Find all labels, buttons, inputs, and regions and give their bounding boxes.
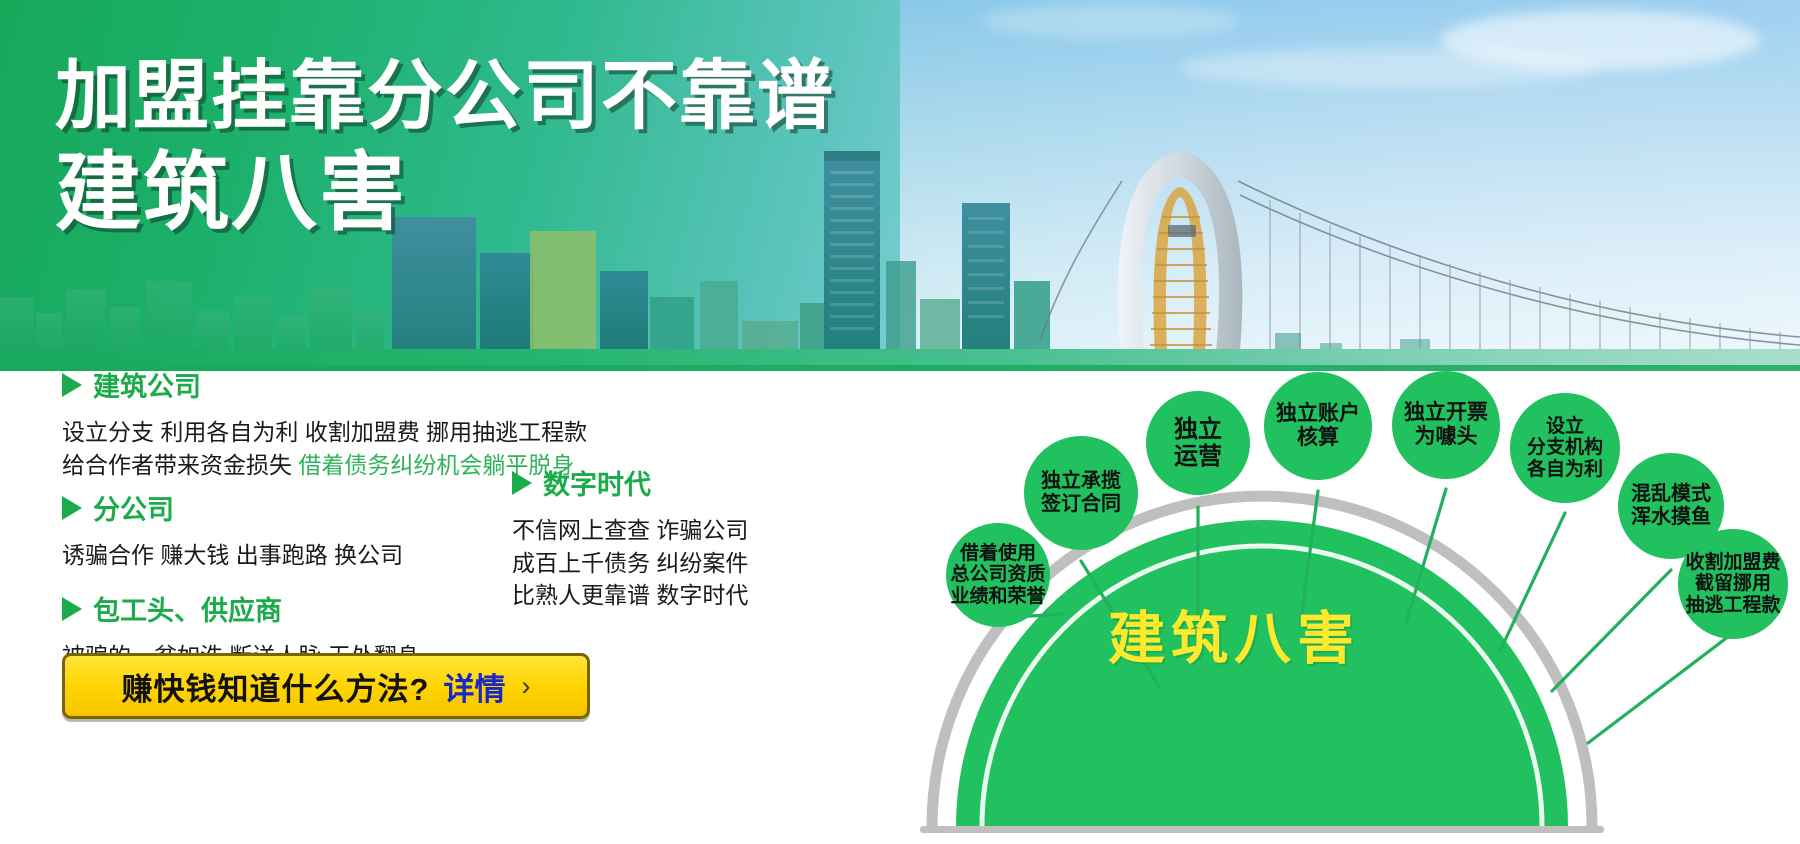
bubble-text: 独立账户 核算 bbox=[1276, 402, 1360, 450]
bubble-text: 设立 分支机构 各自为利 bbox=[1527, 416, 1603, 481]
section-title-text: 包工头、供应商 bbox=[93, 589, 282, 628]
cta-label: 赚快钱知道什么方法? bbox=[122, 664, 430, 709]
triangle-bullet-icon bbox=[62, 373, 82, 397]
body-line: 诱骗合作 赚大钱 出事跑路 换公司 bbox=[62, 539, 403, 572]
cta-detail-link[interactable]: 详情 bbox=[443, 664, 505, 709]
section-body: 设立分支 利用各自为利 收割加盟费 挪用抽逃工程款 给合作者带来资金损失 借着债… bbox=[62, 416, 587, 481]
bubble-set-up-branches[interactable]: 设立 分支机构 各自为利 bbox=[1510, 393, 1620, 503]
triangle-bullet-icon bbox=[62, 597, 82, 621]
section-title-text: 建筑公司 bbox=[93, 365, 201, 404]
bubble-line: 浑水摸鱼 bbox=[1631, 506, 1711, 529]
cloud-decor bbox=[980, 4, 1240, 38]
poster: 加盟挂靠分公司不靠谱 建筑八害 建筑公司 设立分支 利用各自为利 收割加盟费 挪… bbox=[0, 0, 1800, 844]
bubble-use-parent-qualification[interactable]: 借着使用 总公司资质 业绩和荣誉 bbox=[946, 523, 1050, 627]
body-line: 设立分支 利用各自为利 收割加盟费 挪用抽逃工程款 bbox=[62, 416, 587, 449]
section-title-row: 数字时代 bbox=[512, 463, 748, 502]
bubble-line: 业绩和荣誉 bbox=[950, 586, 1045, 608]
body-line: 不信网上查查 诈骗公司 bbox=[512, 514, 748, 547]
bubble-line: 混乱模式 bbox=[1631, 483, 1711, 506]
section-title-row: 包工头、供应商 bbox=[62, 589, 420, 628]
bubble-harvest-franchise-fee[interactable]: 收割加盟费 截留挪用 抽逃工程款 bbox=[1678, 529, 1788, 639]
chevron-right-icon: › bbox=[521, 671, 530, 702]
bubble-line: 分支机构 bbox=[1527, 437, 1603, 459]
bubble-text: 借着使用 总公司资质 业绩和荣誉 bbox=[950, 543, 1045, 608]
triangle-bullet-icon bbox=[62, 496, 82, 520]
bubble-line: 借着使用 bbox=[950, 543, 1045, 565]
triangle-bullet-icon bbox=[512, 471, 532, 495]
section-body: 诱骗合作 赚大钱 出事跑路 换公司 bbox=[62, 539, 403, 572]
body-line: 给合作者带来资金损失 借着债务纠纷机会躺平脱身 bbox=[62, 449, 587, 482]
bubble-line: 设立 bbox=[1527, 416, 1603, 438]
cta-button[interactable]: 赚快钱知道什么方法? 详情 › bbox=[62, 653, 590, 719]
bubble-line: 独立账户 bbox=[1276, 402, 1360, 426]
body-line: 成百上千债务 纠纷案件 bbox=[512, 547, 748, 580]
bubble-line: 为噱头 bbox=[1404, 425, 1488, 449]
bubble-line: 总公司资质 bbox=[950, 564, 1045, 586]
bubble-text: 独立开票 为噱头 bbox=[1404, 401, 1488, 449]
bubble-line: 核算 bbox=[1276, 426, 1360, 450]
bubble-independent-account[interactable]: 独立账户 核算 bbox=[1264, 372, 1372, 480]
hero-banner: 加盟挂靠分公司不靠谱 建筑八害 bbox=[0, 0, 1800, 371]
dome-center-label: 建筑八害 bbox=[1108, 593, 1360, 675]
bubble-line: 截留挪用 bbox=[1685, 573, 1780, 595]
bubble-line: 抽逃工程款 bbox=[1685, 595, 1780, 617]
section-title-row: 建筑公司 bbox=[62, 365, 587, 404]
bubble-text: 独立承揽 签订合同 bbox=[1041, 470, 1121, 516]
section-title-text: 数字时代 bbox=[543, 463, 651, 502]
bubble-line: 独立承揽 bbox=[1041, 470, 1121, 493]
bubble-line: 独立 bbox=[1174, 416, 1222, 443]
section-title-text: 分公司 bbox=[93, 488, 174, 527]
section-title-row: 分公司 bbox=[62, 488, 403, 527]
hero-headline: 加盟挂靠分公司不靠谱 建筑八害 bbox=[55, 58, 835, 237]
body-line: 比熟人更靠谱 数字时代 bbox=[512, 579, 748, 612]
section-branch-company: 分公司 诱骗合作 赚大钱 出事跑路 换公司 bbox=[62, 488, 403, 572]
left-content-column: 建筑公司 设立分支 利用各自为利 收割加盟费 挪用抽逃工程款 给合作者带来资金损… bbox=[0, 371, 920, 844]
bubble-line: 收割加盟费 bbox=[1685, 552, 1780, 574]
body-span: 设立分支 利用各自为利 收割加盟费 挪用抽逃工程款 bbox=[62, 419, 587, 445]
bubble-independent-operation[interactable]: 独立 运营 bbox=[1146, 391, 1250, 495]
body-span: 给合作者带来资金损失 bbox=[62, 452, 298, 478]
bubble-text: 独立 运营 bbox=[1174, 416, 1222, 471]
section-digital-era: 数字时代 不信网上查查 诈骗公司 成百上千债务 纠纷案件 比熟人更靠谱 数字时代 bbox=[512, 463, 748, 612]
bubble-line: 独立开票 bbox=[1404, 401, 1488, 425]
cloud-decor bbox=[1180, 48, 1600, 88]
headline-line-1: 加盟挂靠分公司不靠谱 bbox=[55, 58, 835, 136]
bubble-text: 收割加盟费 截留挪用 抽逃工程款 bbox=[1685, 552, 1780, 617]
section-body: 不信网上查查 诈骗公司 成百上千债务 纠纷案件 比熟人更靠谱 数字时代 bbox=[512, 514, 748, 612]
bubble-line: 各自为利 bbox=[1527, 459, 1603, 481]
bubble-text: 混乱模式 浑水摸鱼 bbox=[1631, 483, 1711, 529]
bubble-line: 签订合同 bbox=[1041, 493, 1121, 516]
infographic-panel: 建筑八害 借着使用 总公司资质 业绩和荣誉 独立承揽 签订合同 独立 运营 独立… bbox=[900, 371, 1800, 844]
bubble-independent-contracting[interactable]: 独立承揽 签订合同 bbox=[1024, 436, 1138, 550]
bubble-line: 运营 bbox=[1174, 443, 1222, 470]
bubble-independent-invoice[interactable]: 独立开票 为噱头 bbox=[1392, 371, 1500, 479]
headline-line-2: 建筑八害 bbox=[55, 150, 835, 238]
section-building-company: 建筑公司 设立分支 利用各自为利 收割加盟费 挪用抽逃工程款 给合作者带来资金损… bbox=[62, 365, 587, 481]
